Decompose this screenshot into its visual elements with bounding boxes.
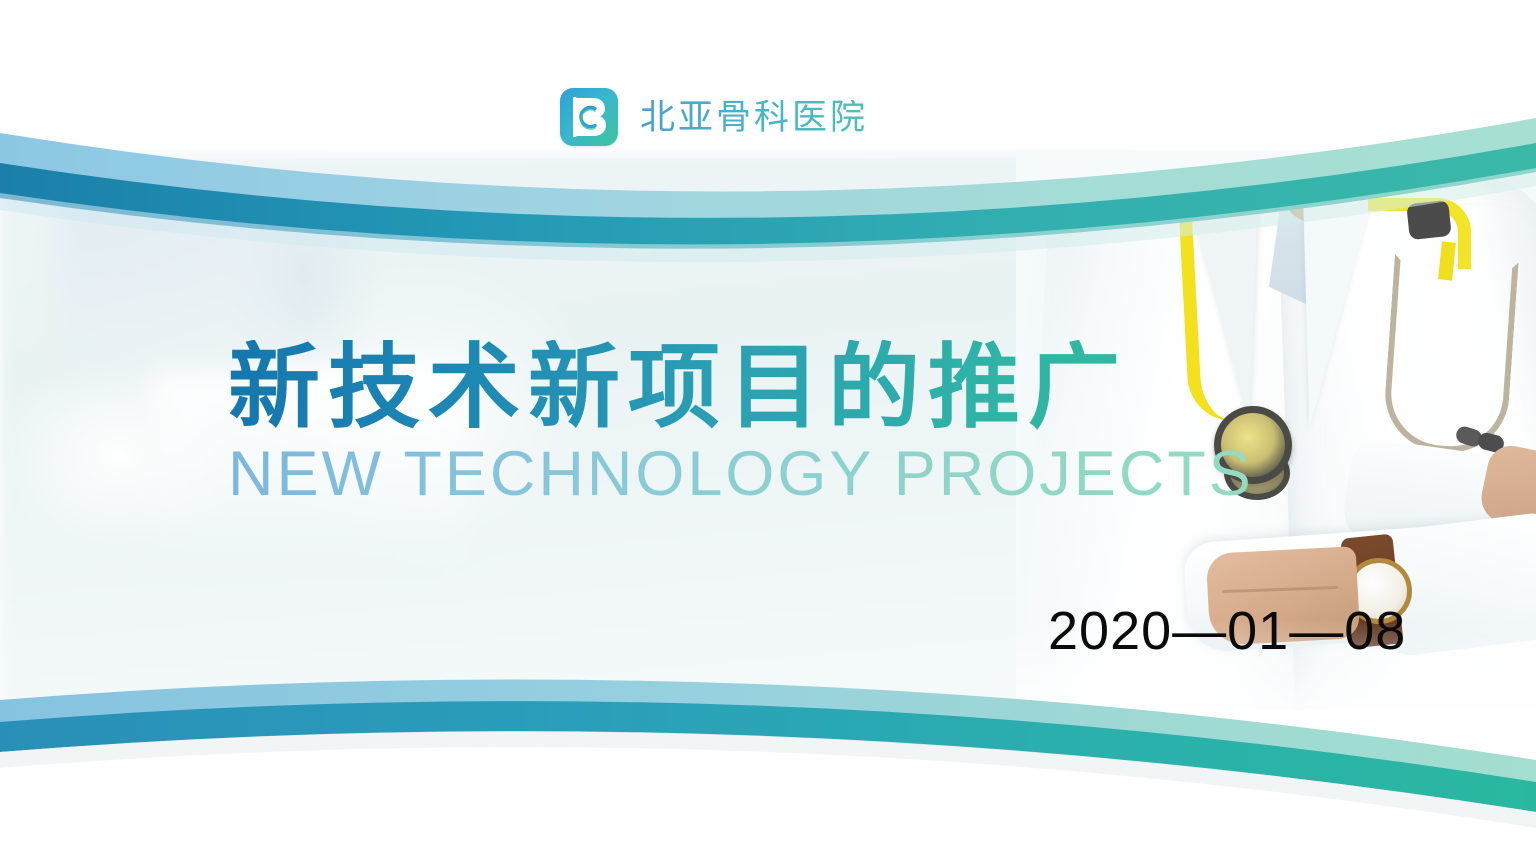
headline-block: 新技术新项目的推广 NEW TECHNOLOGY PROJECTS bbox=[228, 340, 1254, 507]
page-subtitle: NEW TECHNOLOGY PROJECTS bbox=[228, 441, 1254, 507]
presentation-date: 2020—01—08 bbox=[1048, 600, 1406, 662]
brand-lockup: 北亚骨科医院 bbox=[560, 88, 868, 146]
page-title: 新技术新项目的推广 bbox=[228, 340, 1254, 437]
presentation-slide: 北亚骨科医院 新技术新项目的推广 NEW TECHNOLOGY PROJECTS… bbox=[0, 0, 1536, 864]
hospital-logo-cb-icon bbox=[560, 88, 618, 146]
brand-name: 北亚骨科医院 bbox=[640, 100, 868, 135]
